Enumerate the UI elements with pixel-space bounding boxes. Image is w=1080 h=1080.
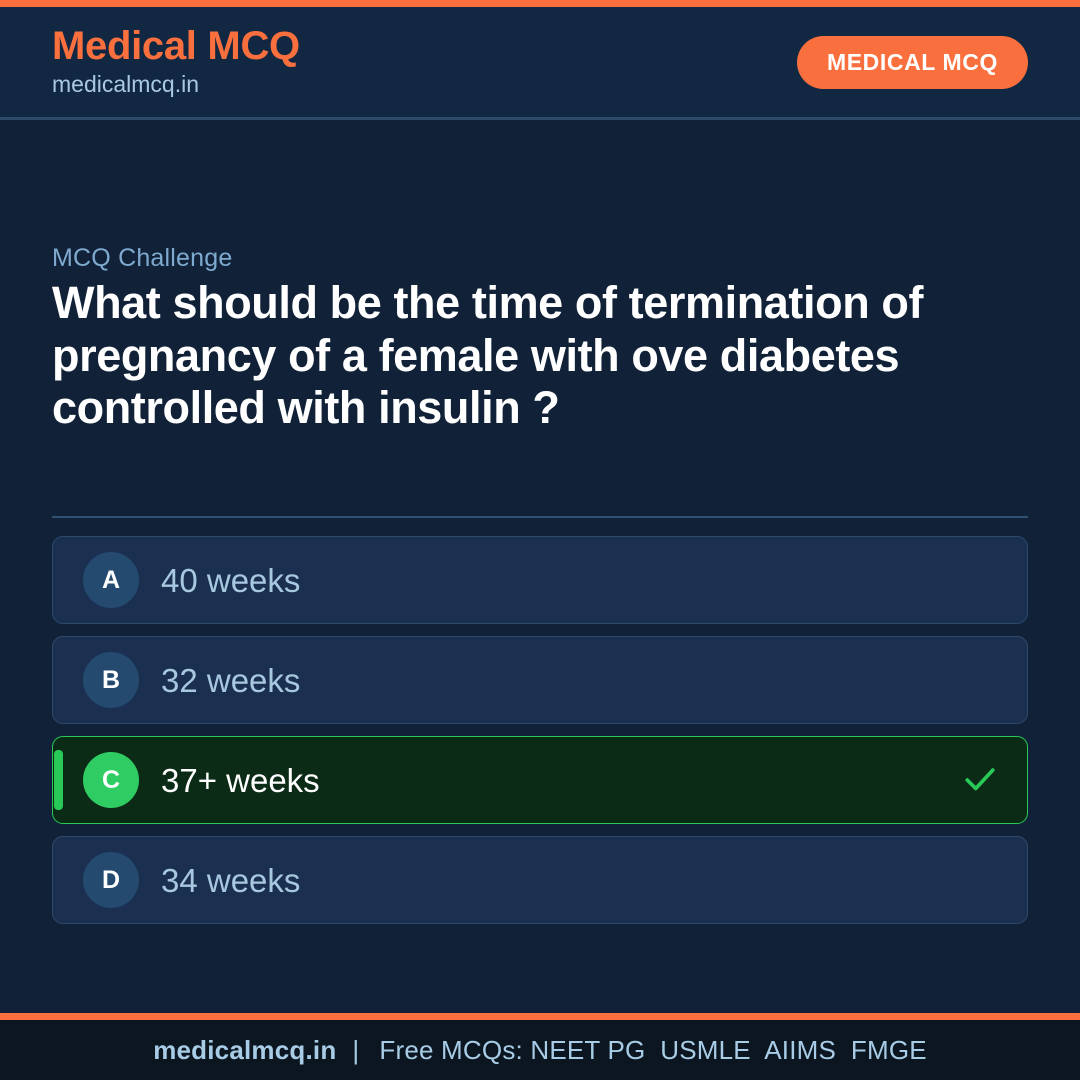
option-letter-badge: A — [83, 552, 139, 608]
option-label: 32 weeks — [161, 664, 300, 697]
option-letter-badge: C — [83, 752, 139, 808]
header: Medical MCQ medicalmcq.in MEDICAL MCQ — [0, 7, 1080, 120]
brand-subtitle: medicalmcq.in — [52, 70, 300, 99]
correct-accent-bar — [54, 750, 63, 810]
kicker-label: MCQ Challenge — [52, 244, 232, 273]
mcq-card: Medical MCQ medicalmcq.in MEDICAL MCQ MC… — [0, 0, 1080, 1080]
footer-exams: Free MCQs: NEET PG USMLE AIIMS FMGE — [375, 1035, 926, 1066]
main-content: MCQ Challenge What should be the time of… — [0, 120, 1080, 1013]
question-text: What should be the time of termination o… — [52, 277, 952, 435]
footer: medicalmcq.in | Free MCQs: NEET PG USMLE… — [0, 1020, 1080, 1080]
brand-title: Medical MCQ — [52, 25, 300, 68]
option-label: 37+ weeks — [161, 764, 320, 797]
option-d[interactable]: D 34 weeks — [52, 836, 1028, 924]
top-accent-bar — [0, 0, 1080, 7]
check-icon — [963, 763, 997, 797]
brand: Medical MCQ medicalmcq.in — [52, 25, 300, 99]
option-letter-badge: D — [83, 852, 139, 908]
header-badge: MEDICAL MCQ — [797, 36, 1028, 89]
footer-separator: | — [336, 1035, 375, 1066]
footer-accent-bar — [0, 1013, 1080, 1020]
option-b[interactable]: B 32 weeks — [52, 636, 1028, 724]
footer-site: medicalmcq.in — [153, 1035, 336, 1066]
option-c[interactable]: C 37+ weeks — [52, 736, 1028, 824]
option-label: 40 weeks — [161, 564, 300, 597]
option-label: 34 weeks — [161, 864, 300, 897]
options-list: A 40 weeks B 32 weeks C 37+ weeks D 34 w… — [52, 536, 1028, 936]
question-divider — [52, 516, 1028, 518]
option-a[interactable]: A 40 weeks — [52, 536, 1028, 624]
option-letter-badge: B — [83, 652, 139, 708]
